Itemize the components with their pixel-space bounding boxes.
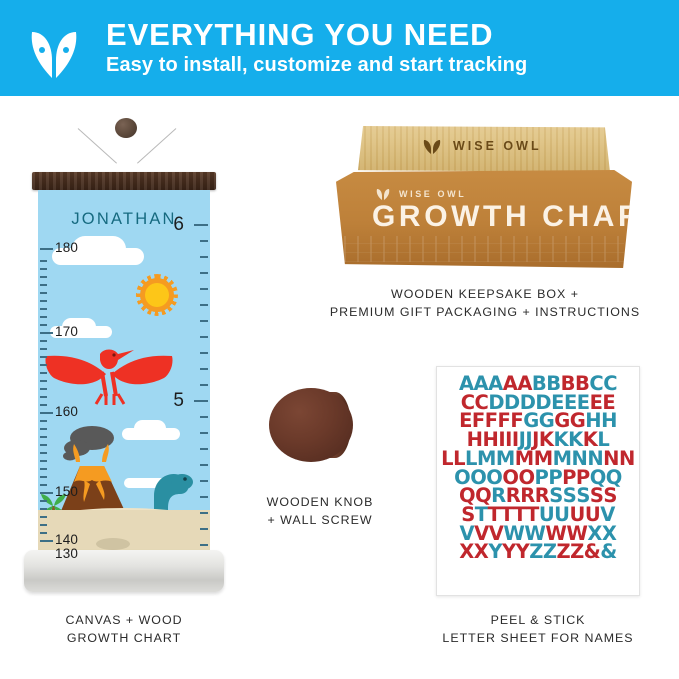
letter-sticker: Z	[570, 543, 584, 562]
letter-row: XXYYYZZZZ&&	[443, 543, 633, 562]
letter-sticker: Y	[502, 543, 516, 562]
chart-canvas-art: JONATHAN	[38, 190, 210, 562]
metric-label-140: 140	[55, 532, 78, 547]
wood-hanger-rod	[32, 172, 216, 190]
chart-child-name: JONATHAN	[38, 210, 210, 229]
metric-label-130: 130	[55, 546, 78, 561]
letter-sticker: X	[459, 543, 474, 562]
lid-brand-text: WISE OWL	[453, 139, 542, 153]
kraft-gift-box: WISE OWL GROWTH CHART	[336, 170, 632, 268]
imperial-ruler	[186, 190, 210, 562]
kraft-brand-group: WISE OWL	[374, 188, 466, 200]
letter-sticker: &	[584, 543, 601, 562]
cloud-icon	[72, 236, 126, 262]
banner-subtitle: Easy to install, customize and start tra…	[106, 51, 527, 79]
letter-sticker: Y	[516, 543, 530, 562]
hanger-knob-icon	[115, 118, 137, 138]
wooden-box-lid: WISE OWL	[358, 126, 610, 172]
knob-caption: WOODEN KNOB + WALL SCREW	[250, 494, 390, 529]
letter-sticker: X	[474, 543, 489, 562]
kraft-pattern-decor	[344, 236, 624, 262]
metric-label-180: 180	[55, 240, 78, 255]
footprint-icon	[96, 538, 130, 550]
banner-title: EVERYTHING YOU NEED	[106, 19, 527, 52]
owl-logo-icon	[374, 188, 392, 200]
owl-logo-icon	[18, 12, 90, 84]
letter-grid: AAAAABBBBCCCCDDDDEEEEEEFFFFGGGGHHHHIIIJJ…	[443, 375, 633, 562]
keepsake-box-caption: WOODEN KEEPSAKE BOX + PREMIUM GIFT PACKA…	[320, 286, 650, 321]
wooden-knob-product	[263, 388, 371, 488]
imperial-label-5: 5	[173, 390, 184, 412]
rolled-canvas	[24, 550, 224, 592]
letter-sticker: Y	[488, 543, 502, 562]
lid-brand-group: WISE OWL	[420, 138, 542, 154]
pterodactyl-icon	[44, 338, 174, 406]
metric-label-150: 150	[55, 484, 78, 499]
imperial-label-6: 6	[173, 214, 184, 236]
header-banner: EVERYTHING YOU NEED Easy to install, cus…	[0, 0, 679, 96]
letter-sticker: Z	[529, 543, 543, 562]
letter-sticker: Z	[556, 543, 570, 562]
kraft-box-title: GROWTH CHART	[372, 200, 665, 234]
metric-label-160: 160	[55, 404, 78, 419]
letter-sticker: Z	[543, 543, 557, 562]
letter-sticker: &	[600, 543, 617, 562]
growth-chart-product: JONATHAN	[18, 112, 230, 592]
keepsake-box-product: WISE OWL WISE OWL GROWTH CHART	[336, 126, 632, 282]
hanger-string-right	[137, 128, 176, 164]
letter-sticker: L	[441, 450, 453, 469]
hanger-string-left	[78, 128, 117, 164]
cloud-icon	[134, 420, 166, 437]
metric-label-170: 170	[55, 324, 78, 339]
owl-logo-icon	[420, 138, 444, 154]
letter-sheet-product: AAAAABBBBCCCCDDDDEEEEEEFFFFGGGGHHHHIIIJJ…	[436, 366, 640, 596]
growth-chart-caption: CANVAS + WOOD GROWTH CHART	[18, 612, 230, 647]
kraft-brand-text: WISE OWL	[399, 189, 466, 199]
knob-face	[269, 388, 353, 462]
banner-text-group: EVERYTHING YOU NEED Easy to install, cus…	[106, 17, 527, 80]
letter-sheet-caption: PEEL & STICK LETTER SHEET FOR NAMES	[430, 612, 646, 647]
sun-icon	[136, 274, 178, 316]
